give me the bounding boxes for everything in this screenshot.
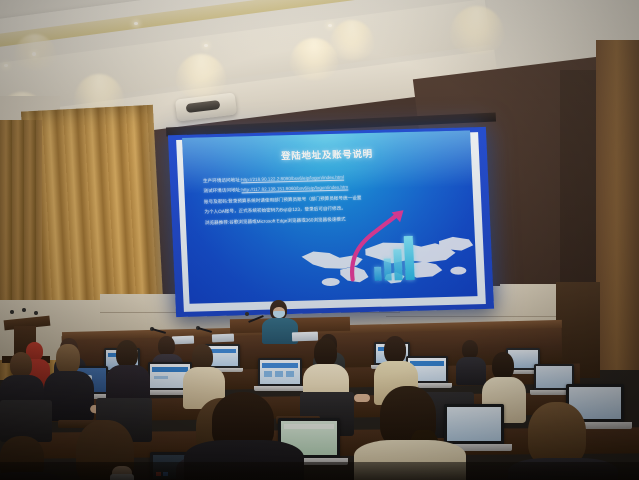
laptop-screen-header — [410, 361, 444, 366]
growth-arrow-icon — [336, 210, 419, 284]
laptop-screen — [447, 407, 501, 441]
attendee-hair — [492, 352, 514, 380]
slide-line: 账号及密码:登录预算系统时请使用部门预算员账号（部门预算员账号统一设置 — [204, 193, 460, 205]
presentation-slide: 登陆地址及账号说明 生产环境访问地址:http://218.90.122.2:8… — [182, 130, 477, 303]
slide-body: 生产环境访问地址:http://218.90.122.2:8090/bsv6/e… — [203, 173, 461, 232]
slide-line-label: 账号及密码: — [204, 199, 228, 205]
attendee-hair — [528, 402, 586, 466]
attendee-hand — [354, 394, 370, 402]
downlight-glow — [330, 20, 374, 60]
ceiling-light-dot — [32, 52, 36, 56]
attendee-body — [456, 357, 486, 385]
ceiling-light-dot — [134, 22, 138, 25]
ceiling-light-dot — [204, 44, 208, 47]
attendee-hair — [56, 344, 80, 374]
downlight-glow — [176, 54, 226, 98]
slide-line: 测试环境访问地址:http://117.82.138.151:8060/bsv6… — [203, 183, 459, 195]
attendee-head — [158, 336, 175, 356]
slide-line: 为个人OA账号，正式系统初始密码为Bsjt@123，登录后可自行修改。 — [204, 204, 460, 216]
conference-room-photo: 登陆地址及账号说明 生产环境访问地址:http://218.90.122.2:8… — [0, 0, 639, 480]
ceiling-light-dot — [4, 64, 8, 67]
attendee-hair — [384, 336, 406, 364]
ceiling-light-dot — [328, 24, 332, 27]
desk-tablet — [172, 336, 194, 345]
laptop-screen-header — [152, 367, 188, 372]
slide-line: 浏览器推荐:谷歌浏览器或Microsoft Edge浏览器或360浏览器极速模式 — [205, 214, 461, 226]
laptop-screen-tile — [286, 371, 294, 377]
laptop-screen-tile — [264, 371, 272, 377]
laptop-screen-tile — [275, 371, 283, 377]
slide-line-label: 生产环境访问地址: — [203, 177, 241, 183]
desk-tablet — [292, 332, 318, 342]
slide-line-text: 登录预算系统时请使用部门预算员账号（部门预算员账号统一设置 — [228, 195, 361, 203]
projection-screen: 登陆地址及账号说明 生产环境访问地址:http://218.90.122.2:8… — [168, 127, 494, 317]
slide-line-label: 浏览器推荐: — [205, 219, 229, 225]
slide-line-text: 谷歌浏览器或Microsoft Edge浏览器或360浏览器极速模式 — [229, 216, 346, 224]
slide-line-text: 正式系统初始密码为Bsjt@123，登录后可自行修改。 — [239, 206, 346, 214]
microphone-icon — [34, 311, 38, 315]
laptop-base — [254, 386, 306, 391]
slide-line-label: 测试环境访问地址: — [203, 188, 241, 194]
attendee-hair — [116, 340, 138, 368]
panel-seam — [386, 316, 566, 317]
microphone-icon — [22, 308, 26, 312]
slide-line-url: http://117.82.138.151:8060/bsv6/eip/logo… — [241, 185, 348, 193]
laptop-screen-header — [262, 363, 298, 368]
laptop-screen-toolbar — [284, 424, 334, 429]
laptop-screen-row — [154, 376, 168, 379]
wood-trim-right — [596, 40, 639, 370]
desk-tablet — [212, 334, 234, 343]
microphone-icon — [245, 312, 249, 316]
attendee-hair — [314, 338, 337, 367]
microphone-icon — [10, 310, 14, 314]
slide-line-label: 为个人OA账号， — [204, 209, 238, 215]
foreground-shadow — [0, 462, 639, 480]
